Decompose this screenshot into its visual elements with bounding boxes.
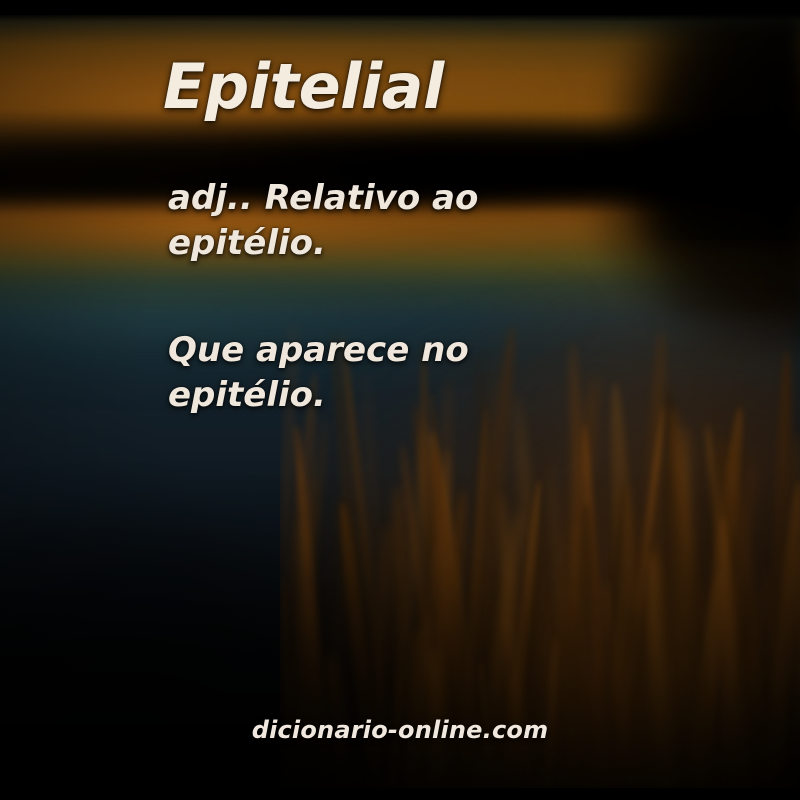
definition-1: adj.. Relativo ao epitélio. — [168, 176, 568, 266]
site-watermark: dicionario-online.com — [0, 716, 800, 744]
text-overlay: Epitelial adj.. Relativo ao epitélio. Qu… — [0, 0, 800, 800]
headword-title: Epitelial — [163, 56, 444, 118]
definition-2: Que aparece no epitélio. — [168, 328, 568, 418]
definition-list: adj.. Relativo ao epitélio. Que aparece … — [168, 176, 568, 418]
dictionary-entry-card: Epitelial adj.. Relativo ao epitélio. Qu… — [0, 0, 800, 800]
